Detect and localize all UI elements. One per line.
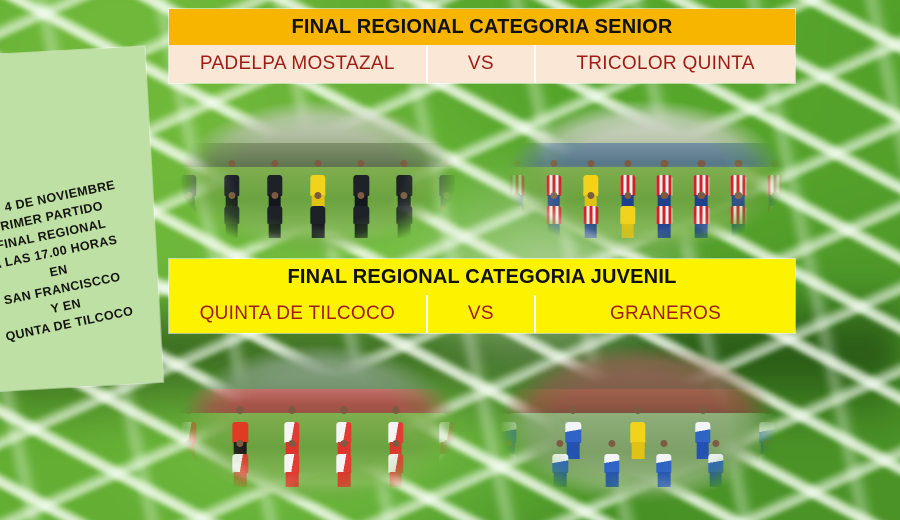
player xyxy=(604,440,621,488)
banner-senior-title: FINAL REGIONAL CATEGORIA SENIOR xyxy=(169,9,795,45)
photo-scene xyxy=(496,92,796,262)
player xyxy=(439,440,456,488)
player-row-front xyxy=(180,192,456,238)
player xyxy=(180,192,197,238)
player xyxy=(500,440,517,488)
poster-root: ADO 4 DE NOVIEMBRE PRIMER PARTIDO FINAL … xyxy=(0,0,900,520)
player-row-front xyxy=(508,192,784,238)
banner-juvenil-away-team: GRANEROS xyxy=(536,295,795,333)
player-goalkeeper xyxy=(619,192,636,238)
player xyxy=(396,192,413,238)
banner-juvenil-home-team: QUINTA DE TILCOCO xyxy=(169,295,426,333)
player-row-front xyxy=(180,440,456,488)
banner-juvenil-title: FINAL REGIONAL CATEGORIA JUVENIL xyxy=(169,259,795,295)
player xyxy=(266,192,283,238)
player xyxy=(767,192,784,238)
player xyxy=(284,440,301,488)
player xyxy=(223,192,240,238)
banner-juvenil-vs-label: VS xyxy=(426,295,536,333)
photo-scene xyxy=(168,336,468,512)
banner-juvenil-match-row: QUINTA DE TILCOCO VS GRANEROS xyxy=(169,295,795,333)
banner-senior-match-row: PADELPA MOSTAZAL VS TRICOLOR QUINTA xyxy=(169,45,795,83)
photo-scene xyxy=(488,336,788,512)
player xyxy=(180,440,197,488)
player xyxy=(508,192,525,238)
banner-senior-vs-label: VS xyxy=(426,45,536,83)
banner-senior: FINAL REGIONAL CATEGORIA SENIOR PADELPA … xyxy=(168,8,796,84)
player xyxy=(707,440,724,488)
player xyxy=(655,440,672,488)
info-line-yen: Y EN xyxy=(50,297,83,316)
team-photo-senior-home xyxy=(168,92,468,262)
banner-senior-home-team: PADELPA MOSTAZAL xyxy=(169,45,426,83)
player xyxy=(545,192,562,238)
player-row-front xyxy=(500,440,776,488)
player xyxy=(335,440,352,488)
player xyxy=(656,192,673,238)
match-info-panel: ADO 4 DE NOVIEMBRE PRIMER PARTIDO FINAL … xyxy=(0,46,163,393)
player xyxy=(759,440,776,488)
banner-senior-away-team: TRICOLOR QUINTA xyxy=(536,45,795,83)
player-red-tracksuit xyxy=(439,192,456,238)
player xyxy=(309,192,326,238)
player xyxy=(232,440,249,488)
player xyxy=(387,440,404,488)
player xyxy=(552,440,569,488)
team-photo-senior-away xyxy=(496,92,796,262)
info-line-en: EN xyxy=(48,263,68,280)
player xyxy=(582,192,599,238)
team-photo-juvenil-away xyxy=(488,336,788,512)
photo-scene xyxy=(168,92,468,262)
player xyxy=(730,192,747,238)
banner-juvenil: FINAL REGIONAL CATEGORIA JUVENIL QUINTA … xyxy=(168,258,796,334)
team-photo-juvenil-home xyxy=(168,336,468,512)
player xyxy=(693,192,710,238)
player xyxy=(353,192,370,238)
